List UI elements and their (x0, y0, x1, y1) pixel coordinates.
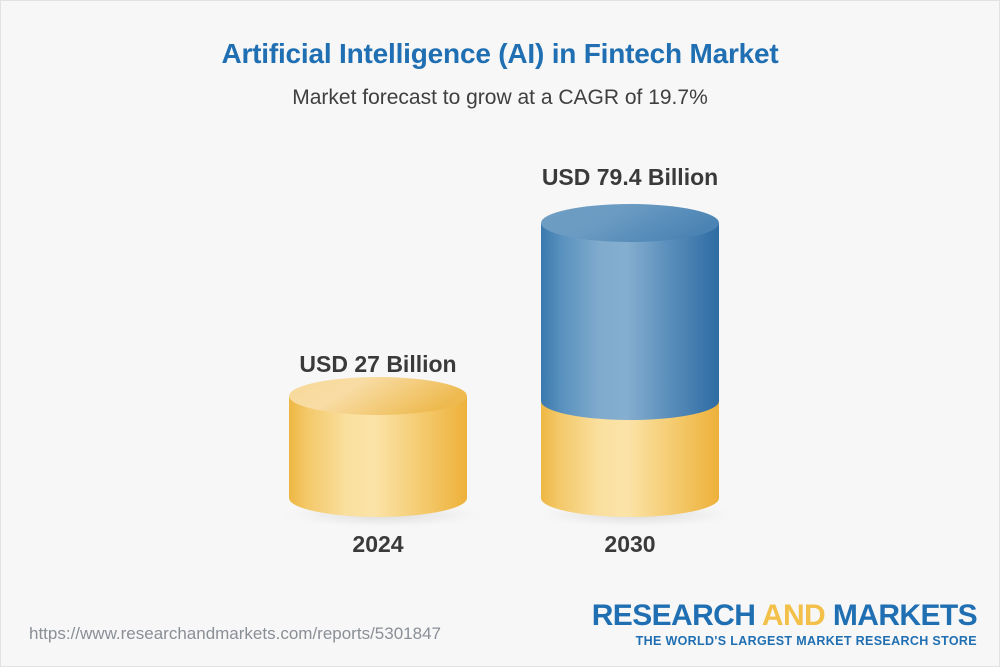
bar-group-2030: USD 79.4 Billion (541, 1, 719, 667)
chart-plot-area: USD 27 Billion (1, 1, 1000, 667)
logo-word-and: AND (762, 599, 825, 632)
logo-word-markets: MARKETS (825, 599, 977, 632)
infographic-canvas: Artificial Intelligence (AI) in Fintech … (0, 0, 1000, 667)
bar-group-2024: USD 27 Billion (289, 1, 467, 667)
logo-wordmark: RESEARCH AND MARKETS (592, 600, 977, 632)
bar-cylinder-2024 (289, 1, 467, 667)
bar-category-label-2030: 2030 (470, 531, 790, 558)
bar-cylinder-2030 (541, 1, 719, 667)
logo-word-research: RESEARCH (592, 599, 762, 632)
brand-logo[interactable]: RESEARCH AND MARKETS THE WORLD'S LARGEST… (592, 600, 977, 649)
logo-tagline: THE WORLD'S LARGEST MARKET RESEARCH STOR… (592, 634, 977, 648)
report-url[interactable]: https://www.researchandmarkets.com/repor… (29, 624, 441, 644)
